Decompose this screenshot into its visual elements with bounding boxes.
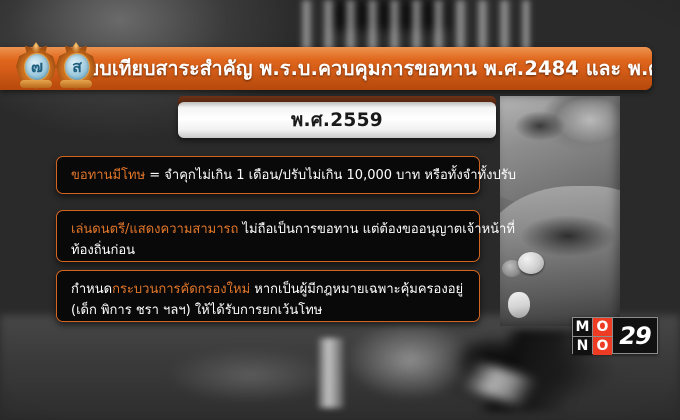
body-text: ไม่ถือเป็นการขอทาน แต่ต้องขออนุญาตเจ้าหน…	[243, 222, 515, 237]
broadcast-graphic-screen: เปรียบเทียบสาระสำคัญ พ.ร.บ.ควบคุมการขอทา…	[0, 0, 680, 420]
mono-letter-grid: M O N O	[572, 317, 613, 354]
content-line: (เด็ก พิการ ชรา ฯลฯ) ให้ได้รับการยกเว้นโ…	[71, 300, 466, 321]
mono29-channel-logo: M O N O 29	[572, 317, 658, 354]
year-plate-label: พ.ศ.2559	[291, 106, 383, 135]
mono-cell-o-bottom: O	[593, 337, 612, 355]
ministry-emblem-icon: ส	[56, 42, 96, 89]
mono-cell-o-top: O	[593, 318, 612, 336]
royal-thai-government-emblem-icon: ๗	[16, 42, 56, 89]
emblem-glyph-1: ๗	[25, 54, 49, 80]
emblem-inner-disc-1: ๗	[24, 53, 50, 81]
background-bottle	[318, 338, 344, 408]
content-box-street-performance: เล่นดนตรี/แสดงความสามารถ ไม่ถือเป็นการขอ…	[56, 210, 480, 262]
emblem-glyph-2: ส	[65, 54, 89, 80]
body-text: = จำคุกไม่เกิน 1 เดือน/ปรับไม่เกิน 10,00…	[149, 168, 516, 183]
photo-edge-shadow	[500, 96, 620, 326]
content-line: ขอทานมีโทษ = จำคุกไม่เกิน 1 เดือน/ปรับไม…	[71, 165, 466, 187]
highlighted-term: ขอทานมีโทษ	[71, 168, 149, 183]
emblem-ribbon-1	[20, 80, 52, 88]
content-line: เล่นดนตรี/แสดงความสามารถ ไม่ถือเป็นการขอ…	[71, 219, 466, 240]
content-box-screening-process: กำหนดกระบวนการคัดกรองใหม่ หากเป็นผู้มีกฎ…	[56, 270, 480, 322]
body-text: ท้องถิ่นก่อน	[71, 243, 135, 258]
emblem-inner-disc-2: ส	[64, 53, 90, 81]
content-line: ท้องถิ่นก่อน	[71, 240, 466, 261]
hands-holding-coins-photo	[500, 96, 620, 326]
mono-channel-number: 29	[613, 317, 658, 354]
mono-cell-m: M	[573, 318, 592, 336]
highlighted-term: เล่นดนตรี/แสดงความสามารถ	[71, 222, 243, 237]
background-blurred-railing	[300, 0, 530, 52]
year-plate: พ.ศ.2559	[178, 102, 496, 138]
highlighted-term: กระบวนการคัดกรองใหม่	[112, 282, 254, 297]
content-line: กำหนดกระบวนการคัดกรองใหม่ หากเป็นผู้มีกฎ…	[71, 279, 466, 300]
content-box-penalty: ขอทานมีโทษ = จำคุกไม่เกิน 1 เดือน/ปรับไม…	[56, 156, 480, 194]
body-text: (เด็ก พิการ ชรา ฯลฯ) ให้ได้รับการยกเว้นโ…	[71, 303, 322, 318]
body-text: กำหนด	[71, 282, 112, 297]
page-title: เปรียบเทียบสาระสำคัญ พ.ร.บ.ควบคุมการขอทา…	[58, 49, 652, 88]
body-text: หากเป็นผู้มีกฎหมายเฉพาะคุ้มครองอยู่	[254, 282, 463, 297]
emblem-ribbon-2	[60, 80, 92, 88]
mono-cell-n: N	[573, 337, 592, 355]
